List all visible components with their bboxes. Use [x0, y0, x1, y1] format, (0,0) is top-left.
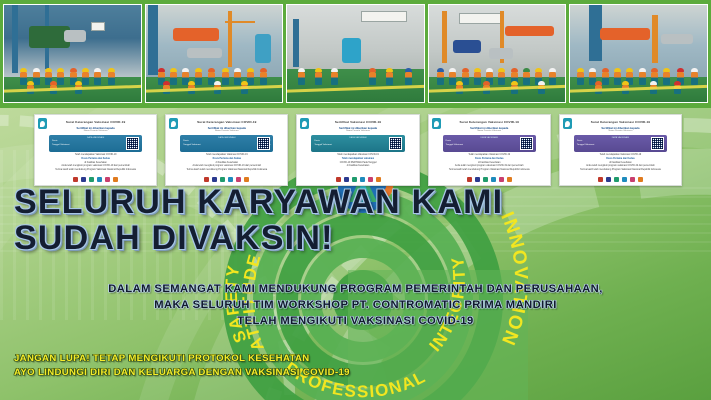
photo-workshop-valves — [145, 4, 284, 103]
certificate-recipient-name: Nama Peserta Vaksinasi — [40, 130, 151, 132]
partner-logo-icon — [507, 177, 512, 182]
certificate-recipient-name: Nama Peserta Vaksinasi — [171, 130, 282, 132]
certificate-field-label: Dosis — [577, 140, 582, 142]
certificate-field-label: Dosis — [183, 140, 188, 142]
body-line-3: TELAH MENGIKUTI VAKSINASI COVID-19 — [0, 314, 711, 330]
certificate-card: Surat Keterangan Vaksinasi COVID-19Serti… — [165, 114, 288, 186]
partner-logo-icon — [89, 177, 94, 182]
certificate-recipient-name: Nama Peserta Vaksinasi — [434, 130, 545, 132]
certificate-body-line: Terima kasih telah mendukung Program Vak… — [171, 169, 282, 172]
certificate-body-line: Dosis Pertama dan Kedua — [565, 158, 676, 161]
health-protocol-note: JANGAN LUPA! TETAP MENGIKUTI PROTOKOL KE… — [14, 352, 350, 381]
certificate-body-lines: Telah mendapatkan Vaksinasi COVID-19Tela… — [302, 154, 413, 168]
certificate-body-lines: Telah mendapatkan Vaksinasi COVID-19Dosi… — [565, 154, 676, 172]
partner-logo-icon — [105, 177, 110, 182]
certificate-data-panel: DATA VAKSINASIDosisDosis ke-2Tanggal Vak… — [49, 135, 142, 152]
certificate-body-line: Terima kasih telah mendukung Program Vak… — [434, 169, 545, 172]
partner-logo-icon — [499, 177, 504, 182]
ministry-health-logo-icon — [563, 118, 572, 129]
photo-workshop-training — [3, 4, 142, 103]
partner-logo-icon — [475, 177, 480, 182]
certificate-body-line: Telah mendapatkan Vaksinasi COVID-19 — [40, 154, 151, 157]
certificate-body-line: di Fasilitas Kesehatan — [565, 162, 676, 165]
partner-logo-icon — [73, 177, 78, 182]
certificate-body-line: Anda telah mengikuti program vaksinasi C… — [565, 165, 676, 168]
partner-logo-icon — [614, 177, 619, 182]
body-line-1: DALAM SEMANGAT KAMI MENDUKUNG PROGRAM PE… — [0, 282, 711, 298]
certificate-title: Surat Keterangan Vaksinasi COVID-19 — [434, 120, 545, 124]
certificate-field-label: Tanggal Vaksinasi — [52, 144, 69, 146]
partner-logo-icon — [220, 177, 225, 182]
certificate-body-lines: Telah mendapatkan Vaksinasi COVID-19Dosi… — [171, 154, 282, 172]
certificate-data-panel: DATA VAKSINASIDosisDosis ke-2Tanggal Vak… — [180, 135, 273, 152]
partner-logo-icon — [368, 177, 373, 182]
ministry-health-logo-icon — [38, 118, 47, 129]
note-line-1: JANGAN LUPA! TETAP MENGIKUTI PROTOKOL KE… — [14, 352, 350, 366]
certificate-body-line: Dosis Pertama dan Kedua — [40, 158, 151, 161]
partner-logo-icon — [336, 177, 341, 182]
photo-workshop-team-center — [428, 4, 567, 103]
certificate-body-lines: Telah mendapatkan Vaksinasi COVID-19Dosi… — [434, 154, 545, 172]
partner-logo-icon — [598, 177, 603, 182]
certificate-title: Surat Keterangan Vaksinasi COVID-19 — [171, 120, 282, 124]
certificate-card: Surat Keterangan Vaksinasi COVID-19Serti… — [428, 114, 551, 186]
partner-logo-icon — [81, 177, 86, 182]
certificate-body-line: Telah mendapatkan Vaksinasi COVID-19 — [565, 154, 676, 157]
certificate-body-lines: Telah mendapatkan Vaksinasi COVID-19Dosi… — [40, 154, 151, 172]
certificate-body-line: di Fasilitas Kesehatan — [302, 165, 413, 168]
certificate-body-line: di Fasilitas Kesehatan — [434, 162, 545, 165]
certificate-data-panel: DATA VAKSINASIDosisDosis ke-2Tanggal Vak… — [443, 135, 536, 152]
certificate-field-label: Dosis — [52, 140, 57, 142]
ministry-health-logo-icon — [300, 118, 309, 129]
certificate-card: Sertifikat Vaksinasi COVID-19Sertifikat … — [296, 114, 419, 186]
certificate-field-label: Dosis — [446, 140, 451, 142]
partner-logo-icon — [352, 177, 357, 182]
photo-workshop-team-right — [569, 4, 708, 103]
qr-code-icon — [520, 137, 533, 150]
certificate-field-label: Tanggal Vaksinasi — [446, 144, 463, 146]
certificate-card: Surat Keterangan Vaksinasi COVID-19Serti… — [34, 114, 157, 186]
partner-logo-icon — [212, 177, 217, 182]
partner-logo-icon — [228, 177, 233, 182]
certificate-body-line: Telah mendapatkan Vaksinasi COVID-19 — [434, 154, 545, 157]
page-title: SELURUH KARYAWAN KAMI SUDAH DIVAKSIN! — [14, 186, 574, 254]
certificate-field-label: Dosis — [314, 140, 319, 142]
ministry-health-logo-icon — [432, 118, 441, 129]
certificate-title: Sertifikat Vaksinasi COVID-19 — [302, 120, 413, 124]
partner-logo-icon — [483, 177, 488, 182]
certificate-body-line: Dosis Pertama dan Kedua — [434, 158, 545, 161]
certificate-body-line: di Fasilitas Kesehatan — [40, 162, 151, 165]
certificate-field-label: Tanggal Vaksinasi — [577, 144, 594, 146]
partner-logo-icon — [344, 177, 349, 182]
certificate-partner-logos — [566, 177, 675, 182]
vaccination-announcement-poster: SAFETY INTEGRITY PROFESSIONAL INNOVATION… — [0, 0, 711, 400]
certificate-data-panel: DATA VAKSINASIDosisDosis ke-2Tanggal Vak… — [574, 135, 667, 152]
certificate-field-label: Tanggal Vaksinasi — [183, 144, 200, 146]
qr-code-icon — [257, 137, 270, 150]
vaccination-certificate-row: Surat Keterangan Vaksinasi COVID-19Serti… — [34, 114, 682, 186]
note-line-2: AYO LINDUNGI DIRI DAN KELUARGA DENGAN VA… — [14, 366, 350, 380]
certificate-title: Surat Keterangan Vaksinasi COVID-19 — [565, 120, 676, 124]
partner-logo-icon — [204, 177, 209, 182]
certificate-partner-logos — [435, 177, 544, 182]
partner-logo-icon — [491, 177, 496, 182]
qr-code-icon — [651, 137, 664, 150]
partner-logo-icon — [97, 177, 102, 182]
certificate-title: Surat Keterangan Vaksinasi COVID-19 — [40, 120, 151, 124]
qr-code-icon — [126, 137, 139, 150]
qr-code-icon — [389, 137, 402, 150]
certificate-body-line: Telah mendapatkan vaksinasi — [302, 158, 413, 161]
certificate-body-line: di Fasilitas Kesehatan — [171, 162, 282, 165]
headline-line-2: SUDAH DIVAKSIN! — [14, 222, 574, 255]
workshop-photo-strip — [0, 0, 711, 108]
partner-logo-icon — [606, 177, 611, 182]
certificate-body-line: Anda telah mengikuti program vaksinasi C… — [434, 165, 545, 168]
partner-logo-icon — [376, 177, 381, 182]
certificate-partner-logos — [41, 177, 150, 182]
headline-line-1: SELURUH KARYAWAN KAMI — [14, 186, 574, 219]
body-line-2: MAKA SELURUH TIM WORKSHOP PT. CONTROMATI… — [0, 298, 711, 314]
certificate-body-line: Anda telah mengikuti program vaksinasi C… — [40, 165, 151, 168]
certificate-body-line: Anda telah mengikuti program vaksinasi C… — [171, 165, 282, 168]
certificate-data-panel: DATA VAKSINASIDosisDosis ke-2Tanggal Vak… — [311, 135, 404, 152]
certificate-card: Surat Keterangan Vaksinasi COVID-19Serti… — [559, 114, 682, 186]
certificate-body-line: Telah mendapatkan Vaksinasi COVID-19 — [302, 154, 413, 157]
certificate-partner-logos — [303, 177, 412, 182]
certificate-body-line: COVID-19 PERTAMA Pada Tanggal — [302, 162, 413, 165]
ministry-health-logo-icon — [169, 118, 178, 129]
partner-logo-icon — [113, 177, 118, 182]
certificate-body-line: Telah mendapatkan Vaksinasi COVID-19 — [171, 154, 282, 157]
partner-logo-icon — [244, 177, 249, 182]
certificate-recipient-name: Nama Peserta Vaksinasi — [565, 130, 676, 132]
certificate-field-label: Tanggal Vaksinasi — [314, 144, 331, 146]
certificate-partner-logos — [172, 177, 281, 182]
partner-logo-icon — [638, 177, 643, 182]
partner-logo-icon — [630, 177, 635, 182]
partner-logo-icon — [467, 177, 472, 182]
partner-logo-icon — [622, 177, 627, 182]
photo-workshop-yard — [286, 4, 425, 103]
partner-logo-icon — [360, 177, 365, 182]
certificate-body-line: Dosis Pertama dan Kedua — [171, 158, 282, 161]
announcement-body: DALAM SEMANGAT KAMI MENDUKUNG PROGRAM PE… — [0, 282, 711, 330]
certificate-body-line: Terima kasih telah mendukung Program Vak… — [40, 169, 151, 172]
certificate-recipient-name: Nama Peserta Vaksinasi — [302, 130, 413, 132]
certificate-body-line: Terima kasih telah mendukung Program Vak… — [565, 169, 676, 172]
partner-logo-icon — [236, 177, 241, 182]
